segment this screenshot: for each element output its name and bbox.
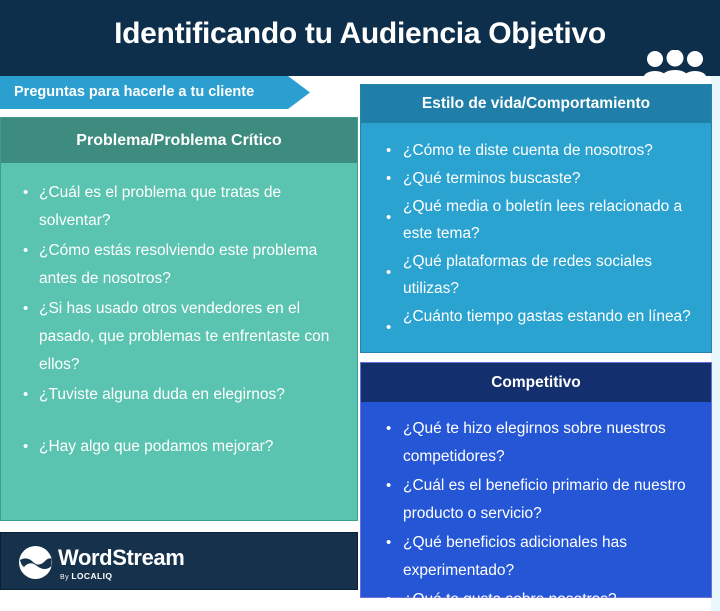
lifestyle-card-header: Estilo de vida/Comportamiento: [361, 85, 711, 123]
lifestyle-question-list: ¿Cómo te diste cuenta de nosotros? ¿Qué …: [361, 123, 711, 331]
problem-card: Problema/Problema Crítico ¿Cuál es el pr…: [0, 117, 358, 521]
logo-byline-prefix: By: [60, 574, 71, 581]
list-item: ¿Cómo estás resolviendo este problema an…: [39, 237, 339, 293]
ribbon-label: Preguntas para hacerle a tu cliente: [14, 84, 254, 100]
infographic-page: Identificando tu Audiencia Objetivo Preg…: [0, 0, 720, 611]
page-title: Identificando tu Audiencia Objetivo: [0, 14, 720, 54]
competitive-question-list: ¿Qué te hizo elegirnos sobre nuestros co…: [361, 402, 711, 611]
wordstream-logo: WordStream By LOCALIQ: [0, 532, 358, 590]
ribbon-banner: Preguntas para hacerle a tu cliente: [0, 76, 310, 109]
list-item: ¿Hay algo que podamos mejorar?: [39, 433, 339, 461]
list-item: ¿Cuánto tiempo gastas estando en línea?: [403, 303, 697, 330]
list-item: ¿Qué plataformas de redes sociales utili…: [403, 248, 697, 302]
problem-question-list: ¿Cuál es el problema que tratas de solve…: [1, 163, 357, 463]
list-item: ¿Qué media o boletín lees relacionado a …: [403, 193, 697, 247]
right-edge-strip: [711, 76, 720, 611]
header-band: Identificando tu Audiencia Objetivo: [0, 0, 720, 76]
lifestyle-card: Estilo de vida/Comportamiento ¿Cómo te d…: [360, 84, 712, 353]
list-item: ¿Qué te hizo elegirnos sobre nuestros co…: [403, 415, 697, 471]
list-item: ¿Tuviste alguna duda en elegirnos?: [39, 381, 339, 409]
list-item: ¿Cuál es el problema que tratas de solve…: [39, 179, 339, 235]
list-item: ¿Si has usado otros vendedores en el pas…: [39, 295, 339, 379]
competitive-card: Competitivo ¿Qué te hizo elegirnos sobre…: [360, 362, 712, 598]
list-item: ¿Qué terminos buscaste?: [403, 165, 697, 192]
list-item: ¿Cuál es el beneficio primario de nuestr…: [403, 472, 697, 528]
list-item: ¿Cómo te diste cuenta de nosotros?: [403, 137, 697, 164]
list-item-spacer: [39, 411, 339, 431]
logo-wordmark: WordStream: [58, 545, 184, 571]
list-item: ¿Qué beneficios adicionales has experime…: [403, 529, 697, 585]
problem-card-header: Problema/Problema Crítico: [1, 118, 357, 163]
people-group-icon: [642, 50, 708, 84]
list-item: ¿Qué te gusta sobre nosotros?: [403, 586, 697, 611]
competitive-card-header: Competitivo: [361, 363, 711, 402]
logo-byline: By LOCALIQ: [60, 571, 112, 581]
logo-parent-brand: LOCALIQ: [71, 571, 112, 581]
wordstream-wave-icon: [19, 546, 52, 579]
